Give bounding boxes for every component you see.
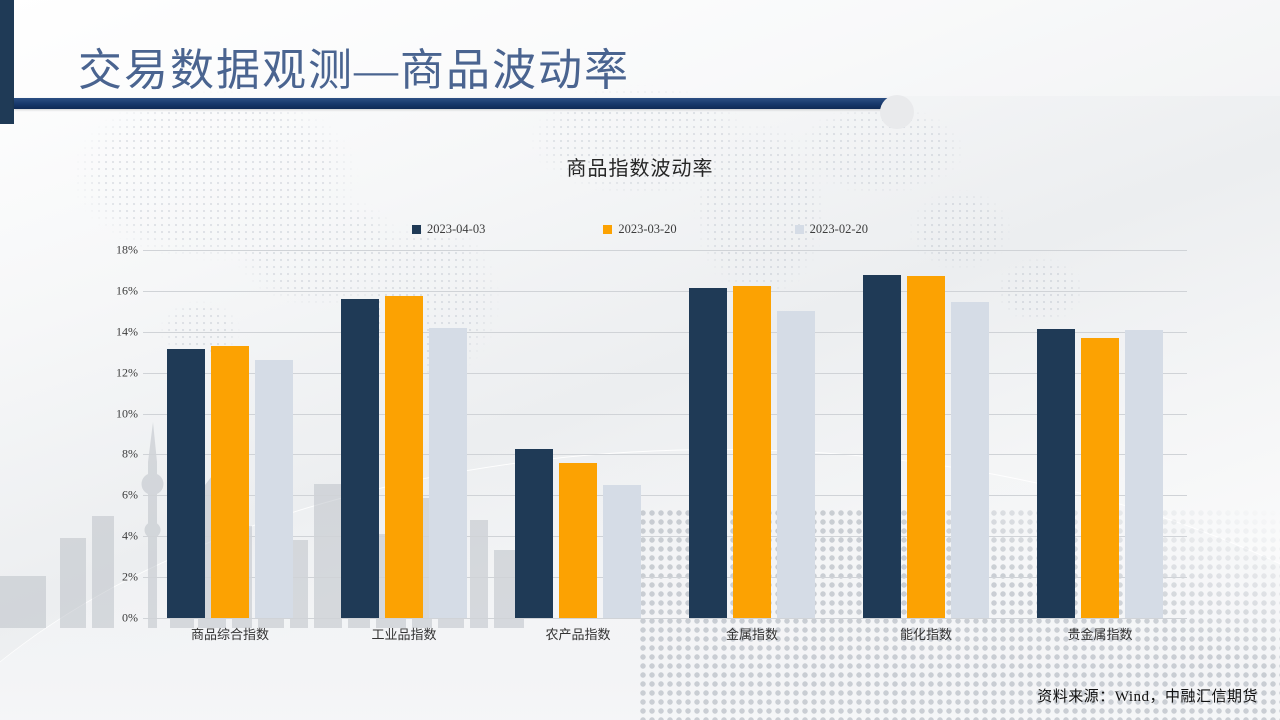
chart-title: 商品指数波动率 <box>0 152 1280 181</box>
title-rule-end-cap <box>880 95 914 129</box>
legend-entry[interactable]: 2023-03-20 <box>603 222 676 237</box>
bar-chart: 商品指数波动率 2023-04-032023-03-202023-02-20 0… <box>0 140 1280 660</box>
bar-group: 商品综合指数 <box>143 250 317 618</box>
bar[interactable] <box>429 328 467 618</box>
plot-area: 0%2%4%6%8%10%12%14%16%18% 商品综合指数工业品指数农产品… <box>143 250 1187 618</box>
x-axis-category-label: 能化指数 <box>839 624 1013 643</box>
y-axis-tick-label: 12% <box>94 365 138 380</box>
page-title: 交易数据观测—商品波动率 <box>78 34 630 98</box>
legend-swatch-icon <box>603 225 612 234</box>
slide-canvas: 交易数据观测—商品波动率 商品指数波动率 2023-04-032023-03-2… <box>0 0 1280 720</box>
x-axis-category-label: 贵金属指数 <box>1013 624 1187 643</box>
legend-entry[interactable]: 2023-02-20 <box>795 222 868 237</box>
y-axis-tick-label: 14% <box>94 324 138 339</box>
legend-label: 2023-04-03 <box>427 222 485 237</box>
legend-swatch-icon <box>412 225 421 234</box>
gridline <box>143 618 1187 619</box>
bar-set <box>317 250 491 618</box>
bar-set <box>491 250 665 618</box>
bar[interactable] <box>907 276 945 618</box>
bar-set <box>1013 250 1187 618</box>
x-axis-category-label: 金属指数 <box>665 624 839 643</box>
title-underline-rule <box>14 98 907 109</box>
bar[interactable] <box>255 360 293 618</box>
bar-group: 能化指数 <box>839 250 1013 618</box>
bar[interactable] <box>603 485 641 618</box>
y-axis-tick-label: 18% <box>94 243 138 258</box>
source-note: 资料来源：Wind，中融汇信期货 <box>1037 685 1258 706</box>
bar-set <box>143 250 317 618</box>
bar[interactable] <box>167 349 205 618</box>
x-axis-category-label: 农产品指数 <box>491 624 665 643</box>
bar[interactable] <box>1081 338 1119 618</box>
left-accent-bar <box>0 0 14 124</box>
y-axis-tick-label: 0% <box>94 611 138 626</box>
bar[interactable] <box>863 275 901 618</box>
bar[interactable] <box>733 286 771 618</box>
bar[interactable] <box>777 311 815 618</box>
x-axis-category-label: 商品综合指数 <box>143 624 317 643</box>
bar[interactable] <box>1037 329 1075 618</box>
x-axis-category-label: 工业品指数 <box>317 624 491 643</box>
bar-set <box>839 250 1013 618</box>
bar-group: 贵金属指数 <box>1013 250 1187 618</box>
legend-label: 2023-02-20 <box>810 222 868 237</box>
legend-swatch-icon <box>795 225 804 234</box>
bar[interactable] <box>385 296 423 618</box>
bar-groups: 商品综合指数工业品指数农产品指数金属指数能化指数贵金属指数 <box>143 250 1187 618</box>
bar[interactable] <box>1125 330 1163 618</box>
bar-set <box>665 250 839 618</box>
bar-group: 农产品指数 <box>491 250 665 618</box>
chart-legend: 2023-04-032023-03-202023-02-20 <box>0 222 1280 237</box>
legend-entry[interactable]: 2023-04-03 <box>412 222 485 237</box>
y-axis-tick-label: 4% <box>94 529 138 544</box>
bar-group: 工业品指数 <box>317 250 491 618</box>
bar[interactable] <box>559 463 597 618</box>
y-axis-tick-label: 16% <box>94 283 138 298</box>
bar[interactable] <box>951 302 989 618</box>
y-axis-tick-label: 6% <box>94 488 138 503</box>
y-axis-tick-label: 8% <box>94 447 138 462</box>
legend-label: 2023-03-20 <box>618 222 676 237</box>
bar[interactable] <box>689 288 727 618</box>
bar[interactable] <box>211 346 249 618</box>
y-axis-tick-label: 10% <box>94 406 138 421</box>
bar[interactable] <box>341 299 379 618</box>
bar[interactable] <box>515 449 553 618</box>
y-axis-tick-label: 2% <box>94 570 138 585</box>
bar-group: 金属指数 <box>665 250 839 618</box>
